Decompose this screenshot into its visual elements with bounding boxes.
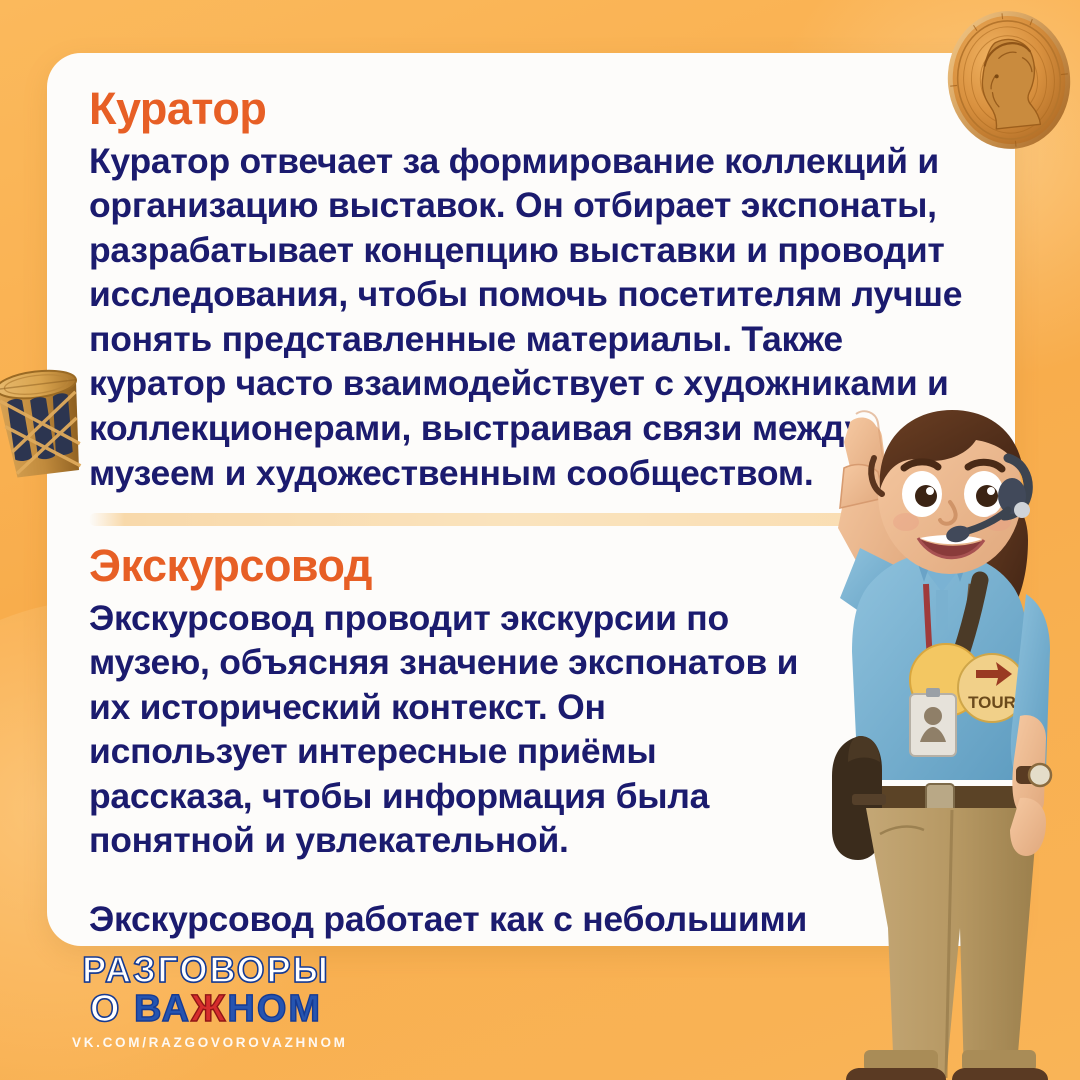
section-guide: Экскурсовод Экскурсовод проводит экскурс… bbox=[89, 542, 975, 946]
gold-coin-icon bbox=[933, 0, 1080, 161]
section-guide-title: Экскурсовод bbox=[89, 542, 975, 590]
brand-logo[interactable]: РАЗГОВОРЫ О ВАЖНОМ VK.COM/RAZGOVOROVAZHN… bbox=[72, 953, 340, 1050]
section-guide-paragraph-2: Экскурсовод работает как с небольшими гр… bbox=[89, 897, 809, 946]
section-curator-paragraph-1: Куратор отвечает за формирование коллекц… bbox=[89, 139, 975, 495]
poster-canvas: Куратор Куратор отвечает за формирование… bbox=[0, 0, 1080, 1080]
brand-logo-line-1: РАЗГОВОРЫ bbox=[72, 953, 340, 988]
brand-logo-line-2: О ВАЖНОМ bbox=[72, 991, 340, 1027]
content-card: Куратор Куратор отвечает за формирование… bbox=[47, 53, 1015, 946]
section-divider bbox=[89, 513, 975, 526]
section-guide-paragraph-1: Экскурсовод проводит экскурсии по музею,… bbox=[89, 596, 809, 863]
brand-logo-nom: НОМ bbox=[227, 988, 322, 1030]
drum-icon bbox=[0, 357, 96, 489]
section-curator: Куратор Куратор отвечает за формирование… bbox=[89, 85, 975, 495]
content-card-inner: Куратор Куратор отвечает за формирование… bbox=[47, 53, 1015, 946]
brand-logo-url[interactable]: VK.COM/RAZGOVOROVAZHNOM bbox=[72, 1035, 340, 1050]
brand-logo-va: ВА bbox=[134, 988, 191, 1030]
brand-logo-o: О bbox=[90, 988, 122, 1030]
brand-logo-zh: Ж bbox=[191, 988, 227, 1030]
section-curator-title: Куратор bbox=[89, 85, 975, 133]
